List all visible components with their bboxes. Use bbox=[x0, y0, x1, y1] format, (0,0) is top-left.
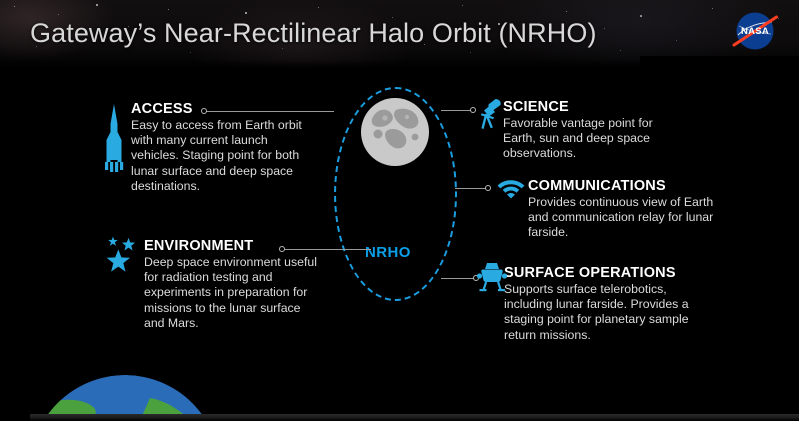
nrho-orbit-label: NRHO bbox=[365, 244, 411, 261]
callout-communications-heading: COMMUNICATIONS bbox=[528, 178, 728, 194]
page-title: Gateway’s Near-Rectilinear Halo Orbit (N… bbox=[30, 18, 597, 49]
earth-graphic bbox=[30, 352, 220, 421]
starfield-right-crop bbox=[640, 56, 799, 76]
callout-science-body: Favorable vantage point for Earth, sun a… bbox=[503, 116, 688, 162]
callout-communications: COMMUNICATIONS Provides continuous view … bbox=[528, 178, 728, 241]
lunar-lander-icon bbox=[476, 261, 508, 302]
connector-dot-communications bbox=[485, 185, 491, 191]
callout-science: SCIENCE Favorable vantage point for Eart… bbox=[503, 99, 688, 162]
rocket-icon bbox=[101, 104, 127, 181]
callout-communications-body: Provides continuous view of Earth and co… bbox=[528, 195, 728, 241]
wifi-signal-icon bbox=[497, 177, 525, 204]
callout-surface-operations-heading: SURFACE OPERATIONS bbox=[504, 265, 704, 281]
stars-icon bbox=[102, 234, 142, 279]
callout-access: ACCESS Easy to access from Earth orbit w… bbox=[131, 101, 311, 194]
callout-access-heading: ACCESS bbox=[131, 101, 311, 117]
callout-environment-body: Deep space environment useful for radiat… bbox=[144, 255, 324, 331]
moon-graphic bbox=[360, 97, 430, 167]
callout-surface-operations-body: Supports surface telerobotics, including… bbox=[504, 282, 704, 343]
connector-dot-science bbox=[470, 107, 476, 113]
callout-environment-heading: ENVIRONMENT bbox=[144, 238, 324, 254]
connector-science bbox=[441, 110, 473, 111]
callout-surface-operations: SURFACE OPERATIONS Supports surface tele… bbox=[504, 265, 704, 343]
callout-environment: ENVIRONMENT Deep space environment usefu… bbox=[144, 238, 324, 331]
slide-bottom-edge-left-crop bbox=[0, 414, 30, 421]
callout-access-body: Easy to access from Earth orbit with man… bbox=[131, 118, 311, 194]
telescope-icon bbox=[478, 98, 504, 135]
callout-science-heading: SCIENCE bbox=[503, 99, 688, 115]
connector-surface-operations bbox=[441, 278, 476, 279]
infographic-slide: Gateway’s Near-Rectilinear Halo Orbit (N… bbox=[0, 0, 799, 421]
connector-communications bbox=[455, 188, 488, 189]
nasa-logo: NASA bbox=[730, 6, 780, 56]
svg-text:NASA: NASA bbox=[741, 26, 769, 37]
slide-bottom-edge bbox=[0, 414, 799, 421]
